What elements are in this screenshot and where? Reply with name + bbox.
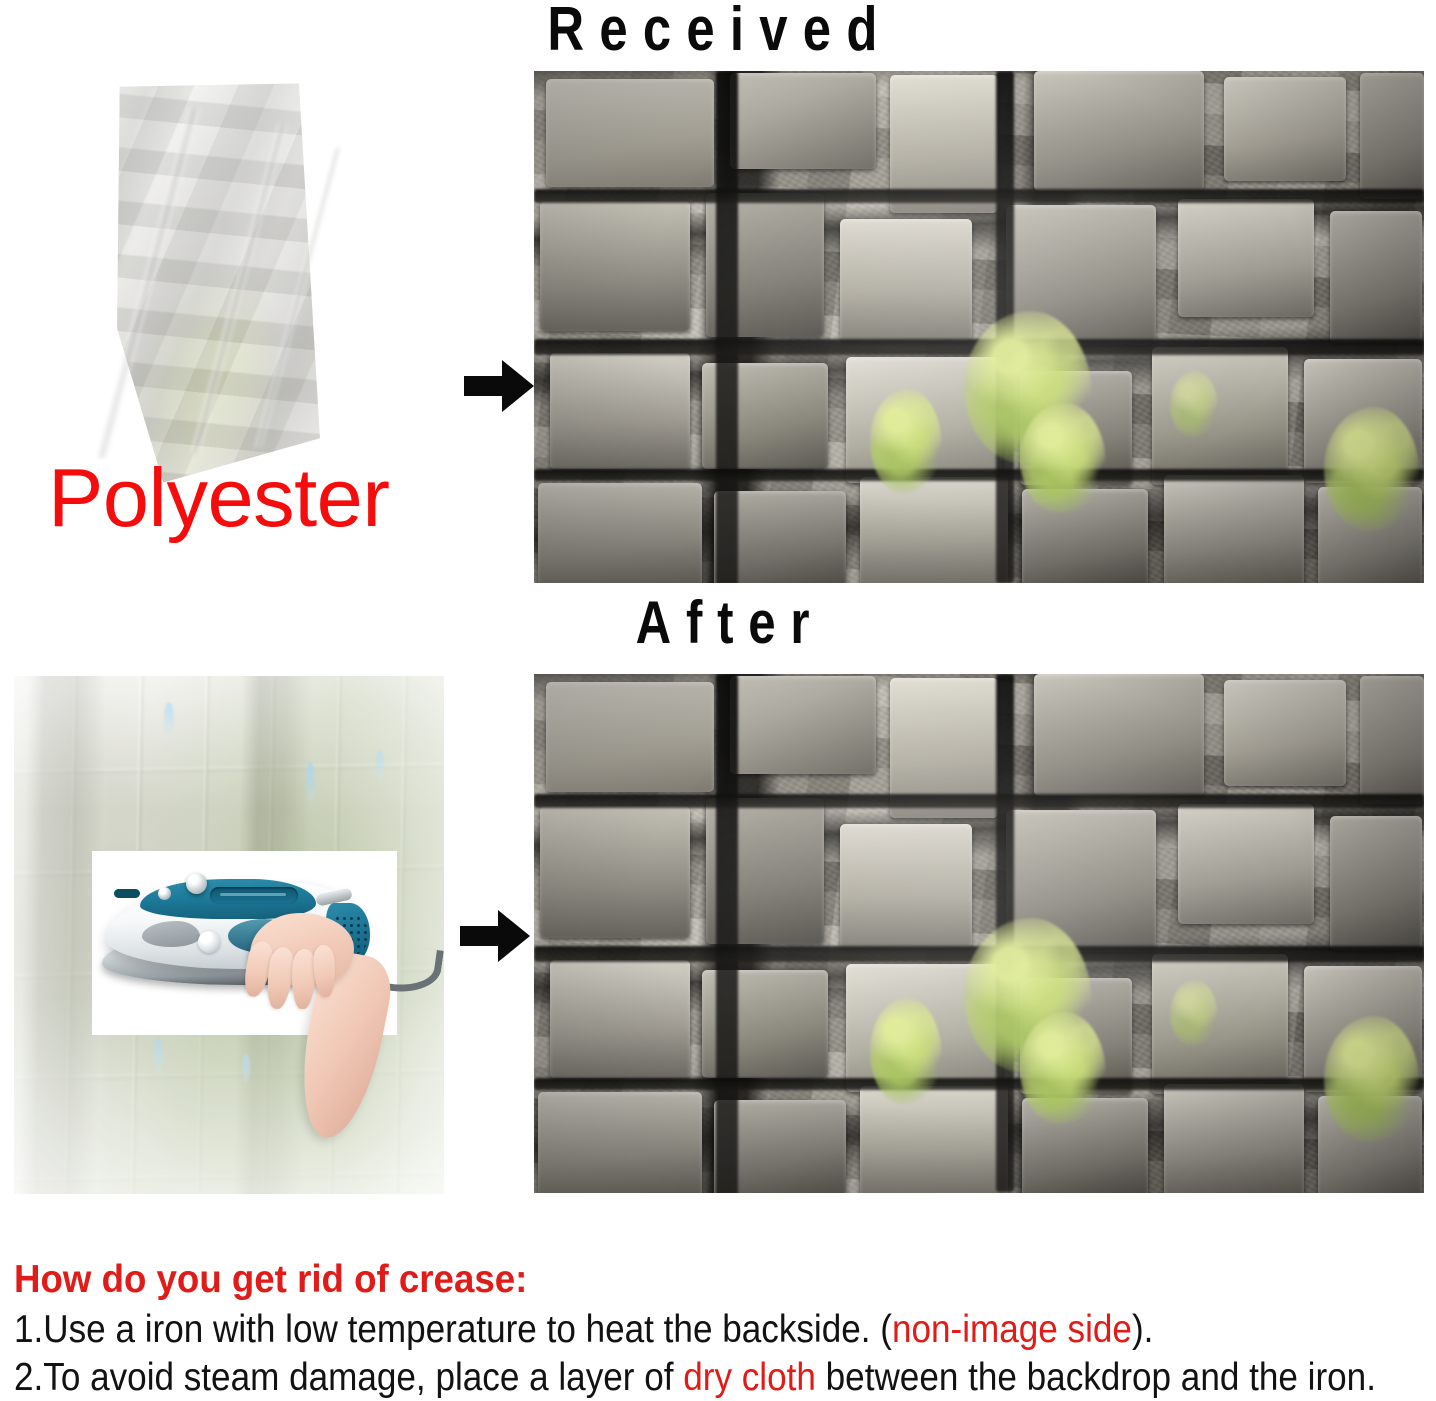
iron-grey-accent (142, 921, 200, 947)
photo-vignette (534, 674, 1424, 1193)
iron-temperature-dial (198, 931, 220, 953)
instructions-heading: How do you get rid of crease: (14, 1256, 1341, 1304)
hand-holding-iron (242, 907, 392, 1057)
arrow-right-icon (462, 358, 536, 414)
iron-vent (114, 889, 140, 898)
finger (291, 949, 316, 1010)
care-instructions: How do you get rid of crease: 1.Use a ir… (14, 1256, 1426, 1400)
photo-vignette (534, 71, 1424, 583)
instruction-line-1-highlight: non-image side (892, 1308, 1132, 1351)
iron-handle-slot (210, 887, 298, 904)
arrow-right-icon (458, 908, 532, 964)
after-backdrop-photo (534, 674, 1424, 1193)
folded-polyester-fabric (22, 78, 422, 490)
instruction-line-1-text: 1.Use a iron with low temperature to hea… (14, 1308, 892, 1351)
steam-iron-photo (92, 851, 397, 1035)
received-backdrop-photo (534, 71, 1424, 583)
instruction-line-2: 2.To avoid steam damage, place a layer o… (14, 1356, 1285, 1400)
polyester-material-label: Polyester (48, 455, 389, 541)
iron-small-knob (158, 887, 171, 900)
instruction-line-2-highlight: dry cloth (683, 1356, 816, 1399)
after-section-title: After (541, 592, 918, 654)
instruction-line-1-suffix: ). (1132, 1308, 1153, 1351)
iron-steam-knob (186, 873, 207, 894)
instruction-line-1: 1.Use a iron with low temperature to hea… (14, 1308, 1285, 1352)
received-section-title: Received (490, 0, 949, 62)
instruction-line-2-suffix: between the backdrop and the iron. (816, 1356, 1376, 1399)
instruction-line-2-text: 2.To avoid steam damage, place a layer o… (14, 1356, 683, 1399)
